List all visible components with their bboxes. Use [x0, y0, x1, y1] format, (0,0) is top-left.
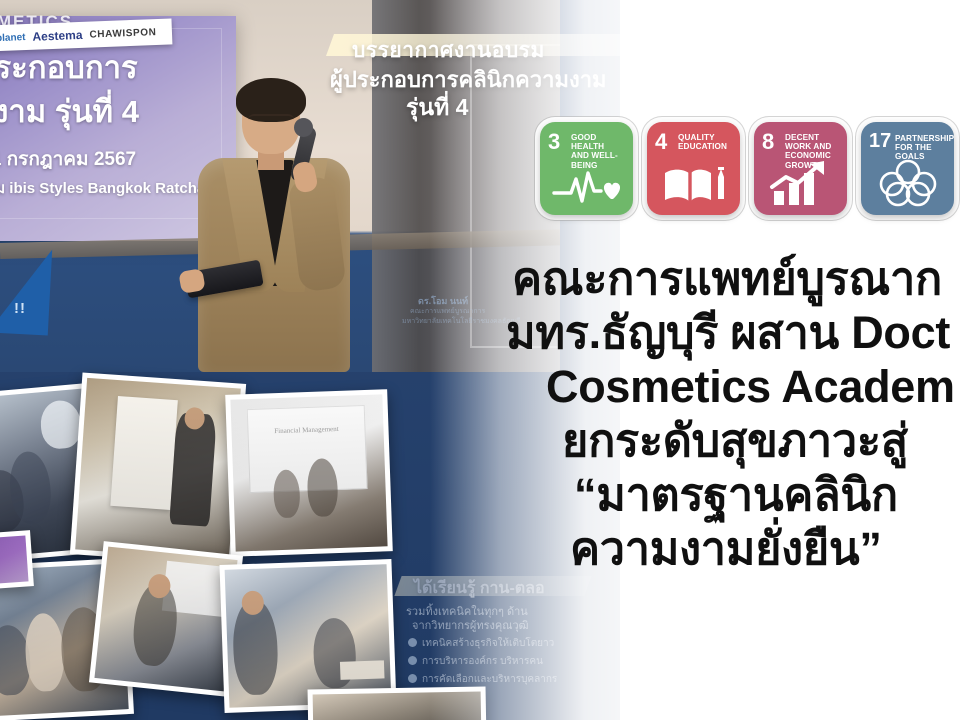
- headline-line-4: ยกระดับสุขภาวะสู่: [562, 414, 960, 468]
- sdg-17-number: 17: [869, 131, 891, 151]
- growth-bar-arrow-icon: [754, 161, 847, 207]
- sdg-17-label: PARTNERSHIPS FOR THE GOALS: [895, 134, 949, 162]
- sdg-8-number: 8: [762, 131, 774, 153]
- heartbeat-heart-icon: [540, 167, 633, 207]
- photo-image: Financial Management: [230, 394, 387, 551]
- bullet-dot-icon: [408, 638, 417, 647]
- headline-line-3: Cosmetics Academ: [546, 360, 960, 414]
- bullet-dot-icon: [408, 656, 417, 665]
- screen-title-line2: วามงาม รุ่นที่ 4: [0, 86, 139, 136]
- photo-image: [313, 692, 482, 720]
- photo-financial-management-slide: Financial Management: [225, 389, 393, 557]
- sdg-goal-4[interactable]: 4 QUALITY EDUCATION: [647, 122, 740, 215]
- photo-bottom-strip: [308, 686, 487, 720]
- learn-sub2: จากวิทยากรผู้ทรงคุณวุฒิ: [412, 616, 529, 634]
- wedge-marking: !!: [14, 300, 26, 317]
- sdg-goal-8[interactable]: 8 DECENT WORK AND ECONOMIC GROWTH: [754, 122, 847, 215]
- sdg-goal-3[interactable]: 3 GOOD HEALTH AND WELL-BEING: [540, 122, 633, 215]
- speaker-caption-line3: มหาวิทยาลัยเทคโนโลยีราชมงคลธัญบุรี: [402, 316, 520, 327]
- photo-flipchart-presenter: [70, 373, 246, 566]
- sdg-3-label: GOOD HEALTH AND WELL-BEING: [571, 133, 628, 170]
- learn-bullet-3: การคัดเลือกและบริหารบุคลากร: [408, 672, 557, 687]
- poster-canvas: COSMETICS รผู้ประกอบการ วามงาม รุ่นที่ 4…: [0, 0, 960, 720]
- open-book-pencil-icon: [647, 163, 740, 207]
- learn-bullet-2: การบริหารองค์กร บริหารคน: [408, 654, 543, 669]
- screen-venue: ณ โรงแรม ibis Styles Bangkok Ratchad: [0, 176, 214, 200]
- sdg-4-label: QUALITY EDUCATION: [678, 133, 735, 151]
- microphone-head-icon: [294, 118, 313, 137]
- learn-bullet-1: เทคนิคสร้างธุรกิจให้เติบโตยาว: [408, 636, 554, 651]
- headline-line-6: ความงามยั่งยืน”: [570, 522, 960, 576]
- sdg-3-number: 3: [548, 131, 560, 153]
- learn-bullet-2-label: การบริหารองค์กร บริหารคน: [422, 656, 543, 667]
- speaker-glasses: [248, 114, 294, 127]
- planet-logo: planet: [0, 32, 26, 44]
- photo-image: [225, 564, 392, 708]
- photo-purple-slide-corner: [0, 530, 34, 590]
- sdg-goal-17[interactable]: 17 PARTNERSHIPS FOR THE GOALS: [861, 122, 954, 215]
- aestema-logo: Aestema: [32, 28, 83, 44]
- top-banner-line3: รุ่นที่ 4: [406, 90, 468, 126]
- sdg-goal-row: 3 GOOD HEALTH AND WELL-BEING 4 QUALITY E…: [540, 122, 954, 215]
- five-interlocking-circles-icon: [861, 159, 954, 207]
- photo-image: [0, 535, 29, 584]
- photo-image: [94, 547, 237, 692]
- stage-blue-wedge: [0, 246, 52, 335]
- sdg-4-number: 4: [655, 131, 667, 153]
- bullet-dot-icon: [408, 674, 417, 683]
- speaker-figure: [190, 74, 370, 372]
- learn-heading: ได้เรียนรู้ กาน-ตลอ: [414, 576, 545, 601]
- headline-line-2: มทร.ธัญบุรี ผสาน Doct: [506, 306, 960, 360]
- headline-line-1: คณะการแพทย์บูรณาก: [512, 252, 960, 306]
- headline-block: คณะการแพทย์บูรณาก มทร.ธัญบุรี ผสาน Doct …: [512, 252, 960, 576]
- headline-line-5: “มาตรฐานคลินิก: [574, 468, 960, 522]
- learn-bullet-1-label: เทคนิคสร้างธุรกิจให้เติบโตยาว: [422, 638, 554, 649]
- learn-bullet-3-label: การคัดเลือกและบริหารบุคลากร: [422, 674, 557, 685]
- screen-date: 20 – 21 กรกฎาคม 2567: [0, 144, 136, 174]
- chawispon-logo: CHAWISPON: [89, 27, 156, 41]
- photo-image: [75, 378, 241, 560]
